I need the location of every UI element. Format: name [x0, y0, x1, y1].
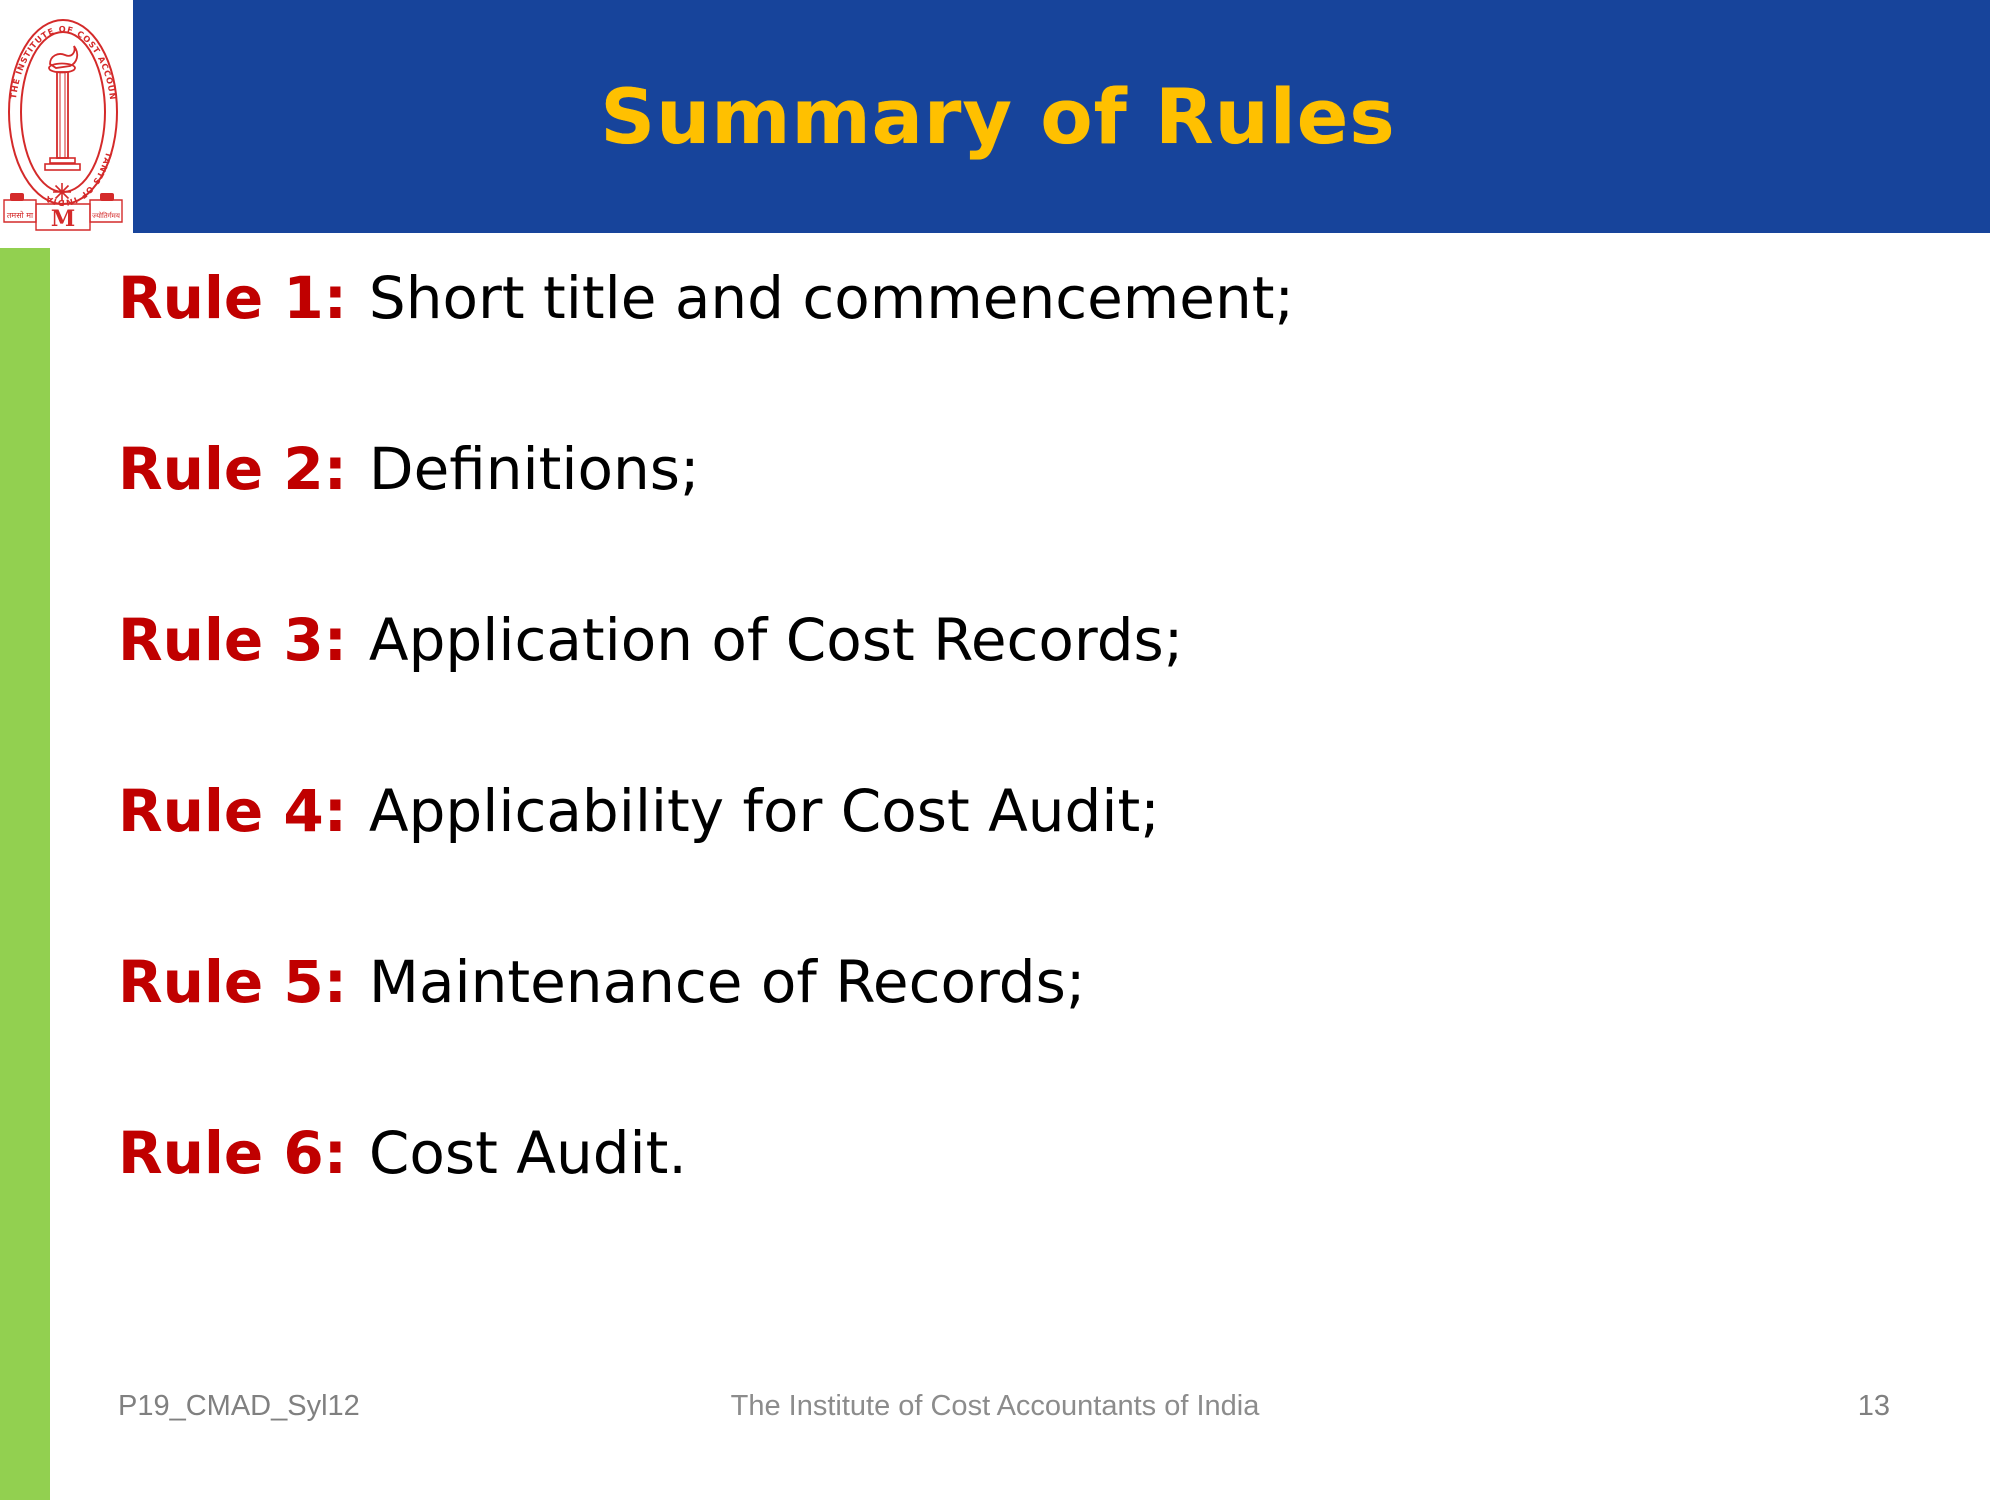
rule-description: Application of Cost Records; [369, 610, 1183, 671]
rule-description: Applicability for Cost Audit; [369, 781, 1160, 842]
rules-list: Rule 1: Short title and commencement; Ru… [118, 268, 1818, 1318]
page-title: Summary of Rules [133, 0, 1863, 233]
rule-label: Rule 2: [118, 439, 369, 500]
rule-description: Cost Audit. [369, 1123, 687, 1184]
rule-description: Short title and commencement; [369, 268, 1294, 329]
svg-text:M: M [51, 206, 75, 232]
rule-label: Rule 6: [118, 1123, 369, 1184]
list-item: Rule 4: Applicability for Cost Audit; [118, 781, 1818, 952]
rule-label: Rule 4: [118, 781, 369, 842]
list-item: Rule 1: Short title and commencement; [118, 268, 1818, 439]
footer-organisation-name: The Institute of Cost Accountants of Ind… [0, 1390, 1990, 1423]
list-item: Rule 2: Definitions; [118, 439, 1818, 610]
list-item: Rule 6: Cost Audit. [118, 1123, 1818, 1294]
list-item: Rule 5: Maintenance of Records; [118, 952, 1818, 1123]
rule-description: Maintenance of Records; [369, 952, 1085, 1013]
footer-page-number: 13 [1858, 1390, 1890, 1423]
institute-emblem-icon: THE INSTITUTE OF COST ACCOUN TANTS OF IN… [0, 0, 126, 233]
institute-logo: THE INSTITUTE OF COST ACCOUN TANTS OF IN… [0, 0, 128, 233]
rule-label: Rule 3: [118, 610, 369, 671]
rule-description: Definitions; [369, 439, 700, 500]
rule-label: Rule 5: [118, 952, 369, 1013]
svg-text:तमसो मा: तमसो मा [7, 210, 34, 220]
rule-label: Rule 1: [118, 268, 369, 329]
slide-footer: P19_CMAD_Syl12 The Institute of Cost Acc… [0, 1390, 1990, 1450]
presentation-slide: Summary of Rules THE INSTITUTE OF COST A… [0, 0, 1990, 1500]
left-accent-bar [0, 248, 50, 1500]
svg-text:ज्योतिर्गमय: ज्योतिर्गमय [92, 211, 121, 220]
list-item: Rule 3: Application of Cost Records; [118, 610, 1818, 781]
